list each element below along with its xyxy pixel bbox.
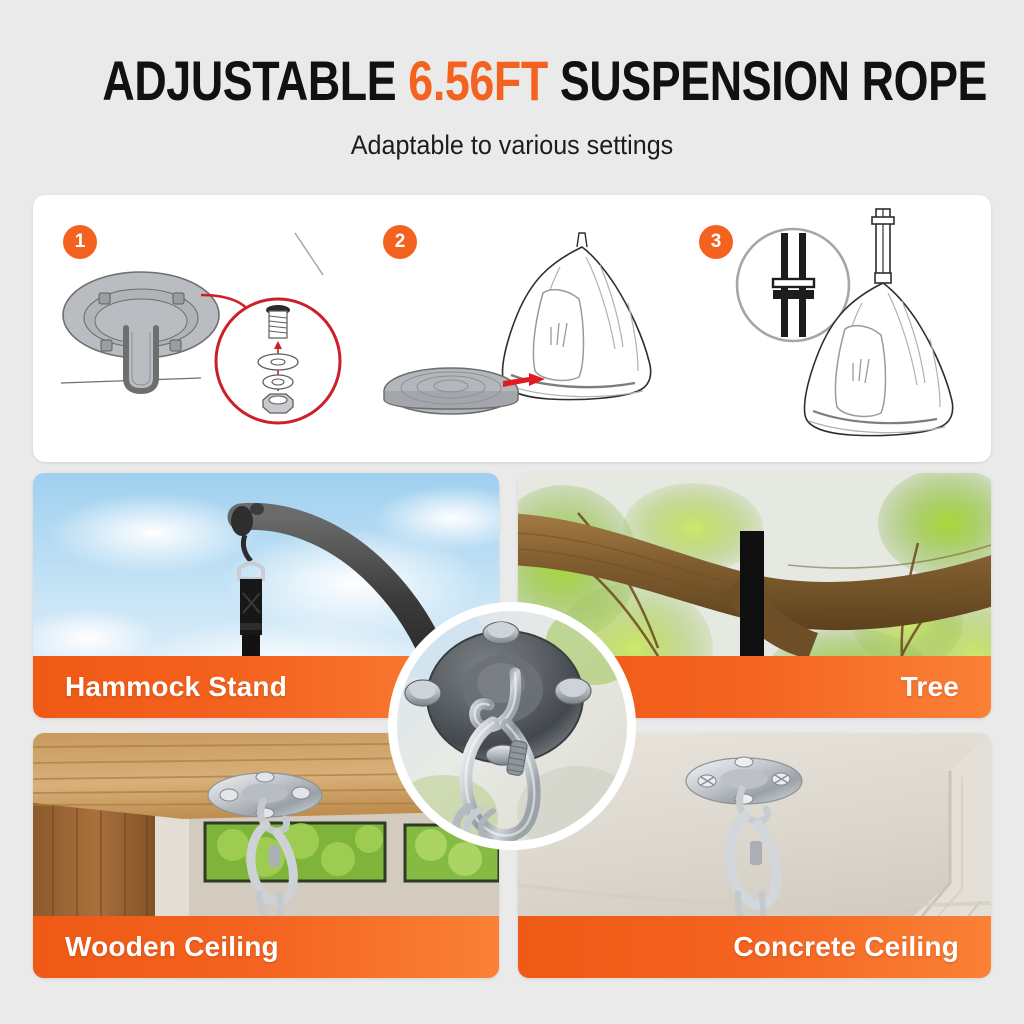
page-subtitle: Adaptable to various settings <box>36 130 988 161</box>
step-2-badge: 2 <box>383 225 417 259</box>
wooden-ceiling-label-band: Wooden Ceiling <box>33 916 499 978</box>
mount-closeup-illustration <box>397 611 627 841</box>
step-3-badge: 3 <box>699 225 733 259</box>
center-mount-inset[interactable] <box>388 602 636 850</box>
infographic-root: ADJUSTABLE 6.56FT SUSPENSION ROPE Adapta… <box>0 0 1024 1024</box>
concrete-ceiling-label: Concrete Ceiling <box>701 931 991 963</box>
instruction-steps-panel: 1 <box>33 195 991 462</box>
title-part-2: SUSPENSION ROPE <box>548 49 987 112</box>
concrete-ceiling-label-band: Concrete Ceiling <box>518 916 991 978</box>
title-accent-measurement: 6.56FT <box>408 49 548 112</box>
step-2: 2 <box>353 195 673 462</box>
title-part-1: ADJUSTABLE <box>102 49 408 112</box>
center-mount-photo <box>397 611 627 841</box>
step-3: 3 <box>673 195 991 462</box>
hammock-stand-label: Hammock Stand <box>33 671 319 703</box>
page-title: ADJUSTABLE 6.56FT SUSPENSION ROPE <box>102 52 921 111</box>
wooden-ceiling-label: Wooden Ceiling <box>33 931 311 963</box>
step-1: 1 <box>33 195 353 462</box>
tree-label: Tree <box>869 671 991 703</box>
step-1-badge: 1 <box>63 225 97 259</box>
